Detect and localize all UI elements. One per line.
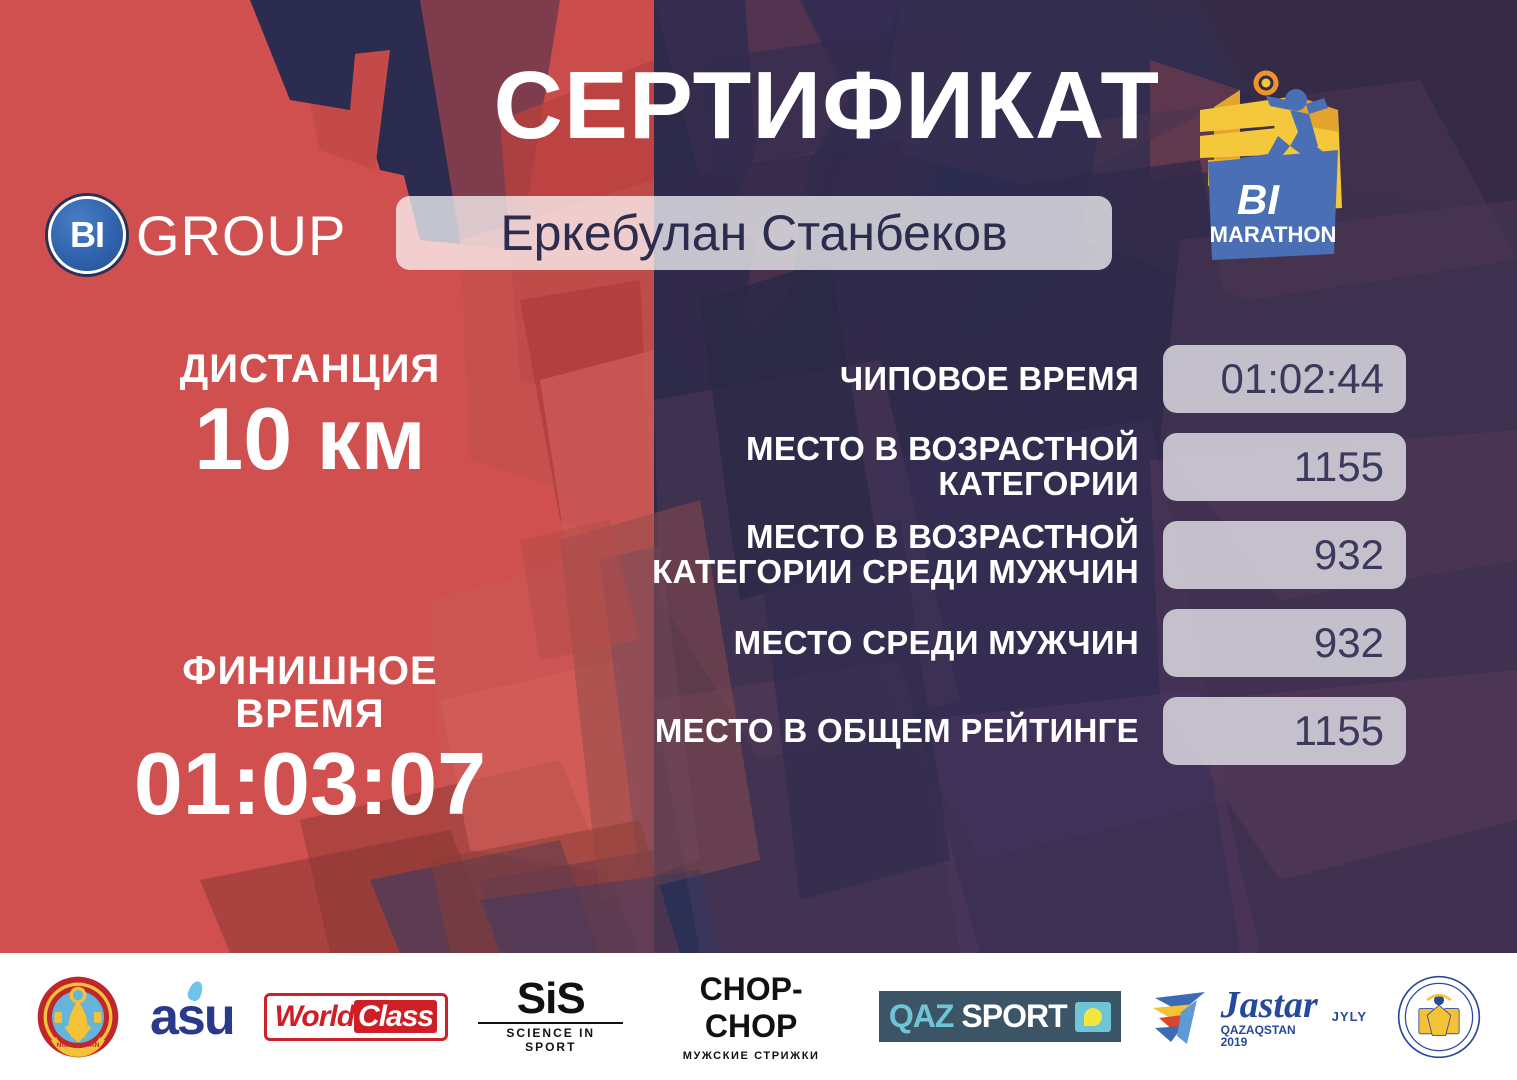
svg-text:MARATHON: MARATHON bbox=[1210, 222, 1337, 247]
distance-label: ДИСТАНЦИЯ bbox=[60, 348, 560, 391]
stat-value: 932 bbox=[1163, 609, 1406, 677]
sponsor-asu: asu bbox=[150, 987, 234, 1047]
qazsport-flag-icon bbox=[1075, 1002, 1111, 1032]
sponsor-nur-sultan: NUR-SULTAN bbox=[36, 975, 120, 1059]
finish-time-label-line1: ФИНИШНОЕ bbox=[60, 650, 560, 693]
svg-text:NUR-SULTAN: NUR-SULTAN bbox=[56, 1042, 99, 1049]
jastar-text: Jastar QAZAQSTAN 2019 bbox=[1221, 986, 1326, 1048]
finish-time-label-line2: ВРЕМЯ bbox=[60, 693, 560, 736]
stat-label: МЕСТО В ВОЗРАСТНОЙ КАТЕГОРИИ bbox=[596, 432, 1139, 502]
bi-marathon-logo: BI MARATHON bbox=[1178, 62, 1378, 292]
stat-label: МЕСТО В ВОЗРАСТНОЙ КАТЕГОРИИ СРЕДИ МУЖЧИ… bbox=[596, 520, 1139, 590]
jastar-main: Jastar bbox=[1221, 986, 1326, 1024]
finish-time-value: 01:03:07 bbox=[60, 736, 560, 831]
jastar-logo: Jastar QAZAQSTAN 2019 JYLY bbox=[1151, 986, 1367, 1048]
stat-label: ЧИПОВОЕ ВРЕМЯ bbox=[596, 362, 1139, 397]
certificate-canvas: СЕРТИФИКАТ BI GROUP Еркебулан Станбеков … bbox=[0, 0, 1517, 1080]
sis-main: SiS bbox=[478, 979, 623, 1019]
svg-text:BI: BI bbox=[1237, 176, 1280, 223]
bi-group-wordmark: GROUP bbox=[136, 203, 346, 268]
sponsor-qazsport: QAZSPORT bbox=[879, 991, 1121, 1042]
bi-group-logo: BI GROUP bbox=[48, 196, 346, 274]
stat-value: 01:02:44 bbox=[1163, 345, 1406, 413]
sis-sub: SCIENCE IN SPORT bbox=[478, 1022, 623, 1054]
qazsport-part2: SPORT bbox=[961, 998, 1066, 1035]
ministry-seal-icon bbox=[1397, 975, 1481, 1059]
sponsor-ministry-seal bbox=[1397, 975, 1481, 1059]
world-class-wordmark: WorldClass bbox=[264, 993, 449, 1041]
page-title: СЕРТИФИКАТ bbox=[0, 58, 1160, 154]
sponsor-bar: NUR-SULTAN asu WorldClass SiS SCIENCE IN… bbox=[0, 953, 1517, 1080]
qazsport-logo: QAZSPORT bbox=[879, 991, 1121, 1042]
participant-name-plate: Еркебулан Станбеков bbox=[396, 196, 1112, 270]
stat-value: 1155 bbox=[1163, 433, 1406, 501]
stat-row: ЧИПОВОЕ ВРЕМЯ 01:02:44 bbox=[596, 344, 1406, 414]
world-class-word1: World bbox=[275, 1000, 354, 1033]
stat-label: МЕСТО В ОБЩЕМ РЕЙТИНГЕ bbox=[596, 714, 1139, 749]
chop-chop-logo: CHOP-CHOP МУЖСКИЕ СТРИЖКИ bbox=[653, 971, 848, 1062]
stat-value: 932 bbox=[1163, 521, 1406, 589]
distance-value: 10 км bbox=[60, 391, 560, 486]
nur-sultan-emblem-icon: NUR-SULTAN bbox=[36, 975, 120, 1059]
distance-block: ДИСТАНЦИЯ 10 км bbox=[60, 348, 560, 486]
stat-label: МЕСТО СРЕДИ МУЖЧИН bbox=[596, 626, 1139, 661]
stats-list: ЧИПОВОЕ ВРЕМЯ 01:02:44 МЕСТО В ВОЗРАСТНО… bbox=[596, 344, 1406, 766]
stat-row: МЕСТО СРЕДИ МУЖЧИН 932 bbox=[596, 608, 1406, 678]
stat-row: МЕСТО В ВОЗРАСТНОЙ КАТЕГОРИИ 1155 bbox=[596, 432, 1406, 502]
sponsor-jastar: Jastar QAZAQSTAN 2019 JYLY bbox=[1151, 986, 1367, 1048]
stat-row: МЕСТО В ВОЗРАСТНОЙ КАТЕГОРИИ СРЕДИ МУЖЧИ… bbox=[596, 520, 1406, 590]
chop-chop-main: CHOP-CHOP bbox=[653, 971, 848, 1045]
world-class-word2: Class bbox=[354, 1000, 437, 1033]
bi-badge-icon: BI bbox=[48, 196, 126, 274]
qazsport-part1: QAZ bbox=[889, 998, 954, 1035]
jastar-sub: QAZAQSTAN 2019 bbox=[1221, 1024, 1326, 1048]
stat-row: МЕСТО В ОБЩЕМ РЕЙТИНГЕ 1155 bbox=[596, 696, 1406, 766]
sponsor-sis: SiS SCIENCE IN SPORT bbox=[478, 979, 623, 1054]
sponsor-world-class: WorldClass bbox=[264, 993, 449, 1041]
stat-value: 1155 bbox=[1163, 697, 1406, 765]
sis-logo: SiS SCIENCE IN SPORT bbox=[478, 979, 623, 1054]
jastar-bird-icon bbox=[1151, 986, 1215, 1048]
sponsor-chop-chop: CHOP-CHOP МУЖСКИЕ СТРИЖКИ bbox=[653, 971, 848, 1062]
jastar-jyly: JYLY bbox=[1332, 1010, 1367, 1023]
asu-wordmark: asu bbox=[150, 987, 234, 1047]
chop-chop-sub: МУЖСКИЕ СТРИЖКИ bbox=[653, 1050, 848, 1062]
finish-time-block: ФИНИШНОЕ ВРЕМЯ 01:03:07 bbox=[60, 650, 560, 831]
